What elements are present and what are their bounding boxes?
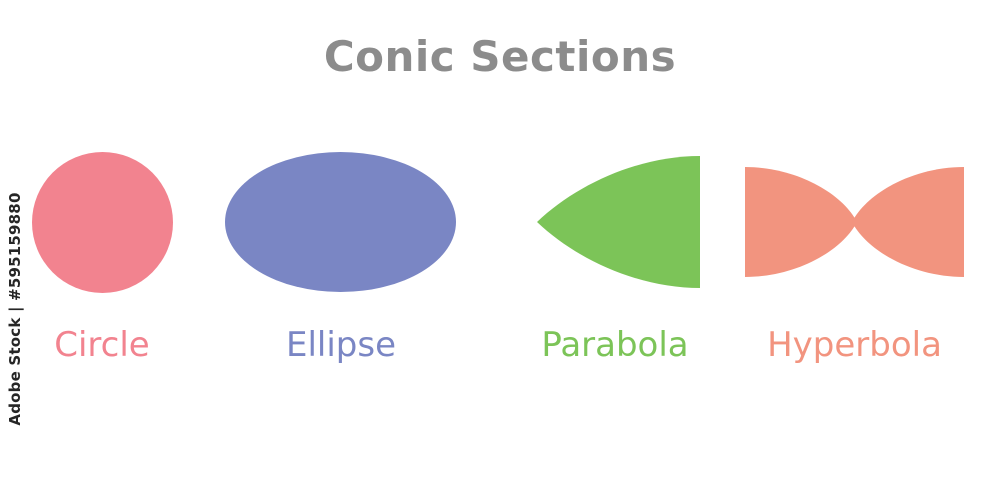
conic-sections-illustration: Conic Sections Circle Ellipse Parabola: [0, 0, 1000, 500]
parabola-shape: [529, 145, 701, 300]
caption-hyperbola: Hyperbola: [744, 328, 965, 362]
figure-ellipse: Ellipse: [225, 145, 457, 300]
caption-ellipse: Ellipse: [225, 328, 457, 362]
hyperbola-shape: [744, 145, 965, 300]
figure-parabola: Parabola: [529, 145, 701, 300]
figure-circle: Circle: [12, 145, 192, 300]
adobe-stock-watermark: Adobe Stock | #595159880: [6, 189, 24, 429]
page-title: Conic Sections: [0, 36, 1000, 78]
parabola-path: [537, 156, 700, 288]
caption-parabola: Parabola: [529, 328, 701, 362]
hyperbola-left-branch: [745, 167, 857, 277]
ellipse-shape-box: [225, 145, 457, 300]
circle-shape-box: [12, 145, 192, 300]
parabola-shape-box: [529, 145, 701, 300]
hyperbola-right-branch: [852, 167, 964, 277]
hyperbola-shape-box: [744, 145, 965, 300]
figure-hyperbola: Hyperbola: [744, 145, 965, 300]
caption-circle: Circle: [12, 328, 192, 362]
circle-shape: [32, 152, 173, 293]
ellipse-shape: [225, 152, 456, 292]
